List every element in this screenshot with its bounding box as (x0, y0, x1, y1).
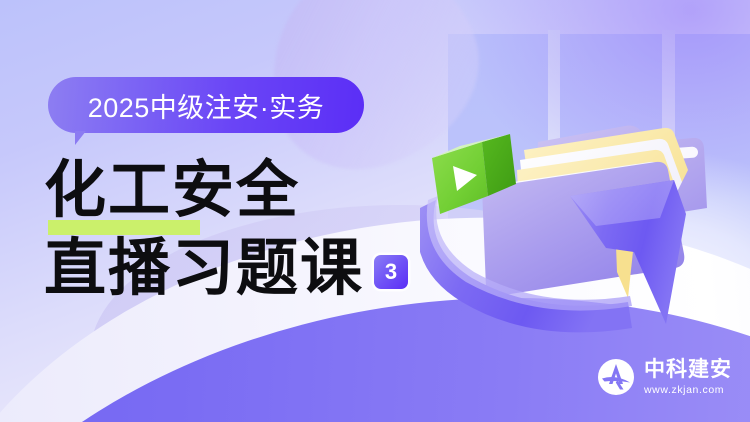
folder-illustration (420, 10, 750, 355)
headline-line-1-text: 化工安全 (44, 152, 464, 230)
brand-url: www.zkjan.com (644, 385, 732, 396)
course-tag: 2025中级注安·实务 (48, 77, 364, 133)
headline-line-1: 化工安全 (44, 152, 464, 230)
course-promo-banner: 2025中级注安·实务 化工安全 直播习题课 3 中科建安 www.zkjan.… (0, 0, 750, 422)
headline-block: 化工安全 直播习题课 3 (44, 152, 464, 308)
headline-line-2-text: 直播习题课 (44, 230, 364, 308)
speech-bubble-tail-icon (75, 131, 95, 145)
zkjan-circle-logo-icon (597, 358, 635, 396)
brand-text-block: 中科建安 www.zkjan.com (644, 359, 732, 396)
brand-logo: 中科建安 www.zkjan.com (597, 358, 732, 396)
headline-line-2: 直播习题课 3 (44, 230, 464, 308)
course-tag-pill: 2025中级注安·实务 (48, 77, 364, 133)
episode-number-badge: 3 (374, 255, 408, 289)
brand-name: 中科建安 (644, 359, 732, 380)
course-tag-label: 2025中级注安·实务 (88, 86, 325, 125)
